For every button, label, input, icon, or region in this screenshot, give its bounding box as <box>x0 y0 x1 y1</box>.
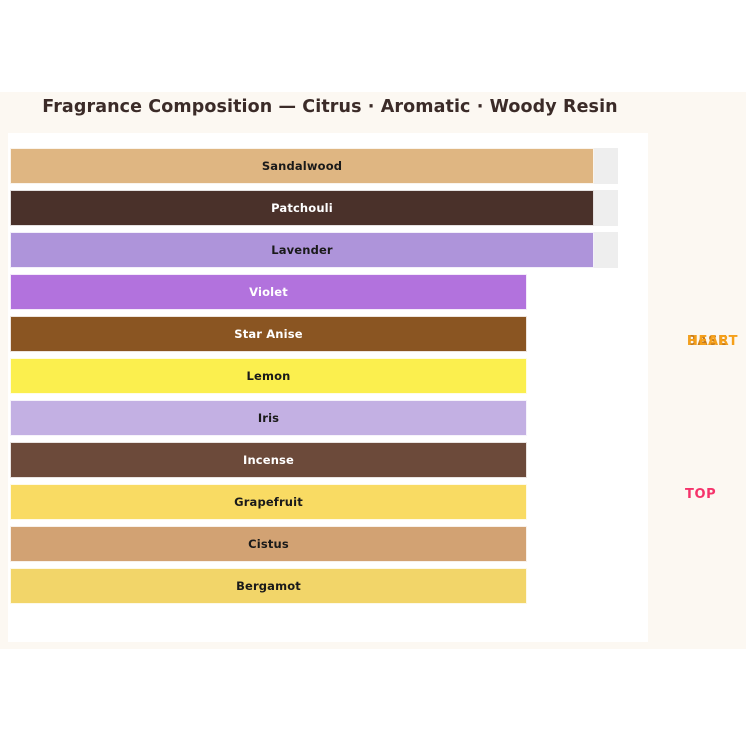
bar-label: Violet <box>249 285 288 299</box>
stage-label-heart: HEART <box>687 334 738 349</box>
bar-incense[interactable]: Incense <box>10 442 527 478</box>
bar-label: Grapefruit <box>234 495 303 509</box>
page-title: Fragrance Composition — Citrus · Aromati… <box>0 97 660 117</box>
bar-row: Lemon <box>8 358 648 394</box>
bar-row: Cistus <box>8 526 648 562</box>
bar-lemon[interactable]: Lemon <box>10 358 527 394</box>
bar-row: Star Anise <box>8 316 648 352</box>
bar-label: Incense <box>243 453 294 467</box>
bar-label: Bergamot <box>236 579 301 593</box>
bar-violet[interactable]: Violet <box>10 274 527 310</box>
bar-lavender[interactable]: Lavender <box>10 232 594 268</box>
bar-label: Cistus <box>248 537 289 551</box>
bar-row: Iris <box>8 400 648 436</box>
bar-star-anise[interactable]: Star Anise <box>10 316 527 352</box>
bar-bergamot[interactable]: Bergamot <box>10 568 527 604</box>
bar-row: Grapefruit <box>8 484 648 520</box>
bar-patchouli[interactable]: Patchouli <box>10 190 594 226</box>
bar-grapefruit[interactable]: Grapefruit <box>10 484 527 520</box>
bar-chart: SandalwoodPatchouliLavenderVioletStar An… <box>8 133 648 642</box>
bar-label: Lemon <box>247 369 291 383</box>
bar-row: Violet <box>8 274 648 310</box>
bar-label: Iris <box>258 411 279 425</box>
bar-row: Incense <box>8 442 648 478</box>
bar-row: Bergamot <box>8 568 648 604</box>
bar-cistus[interactable]: Cistus <box>10 526 527 562</box>
bar-row: Sandalwood <box>8 148 648 184</box>
bar-label: Lavender <box>271 243 332 257</box>
bar-label: Patchouli <box>271 201 333 215</box>
bar-row: Patchouli <box>8 190 648 226</box>
bar-row: Lavender <box>8 232 648 268</box>
plot-panel: SandalwoodPatchouliLavenderVioletStar An… <box>8 133 648 642</box>
stage-label-top: TOP <box>685 487 716 502</box>
bar-iris[interactable]: Iris <box>10 400 527 436</box>
bar-label: Star Anise <box>234 327 302 341</box>
bar-label: Sandalwood <box>262 159 342 173</box>
bar-sandalwood[interactable]: Sandalwood <box>10 148 594 184</box>
